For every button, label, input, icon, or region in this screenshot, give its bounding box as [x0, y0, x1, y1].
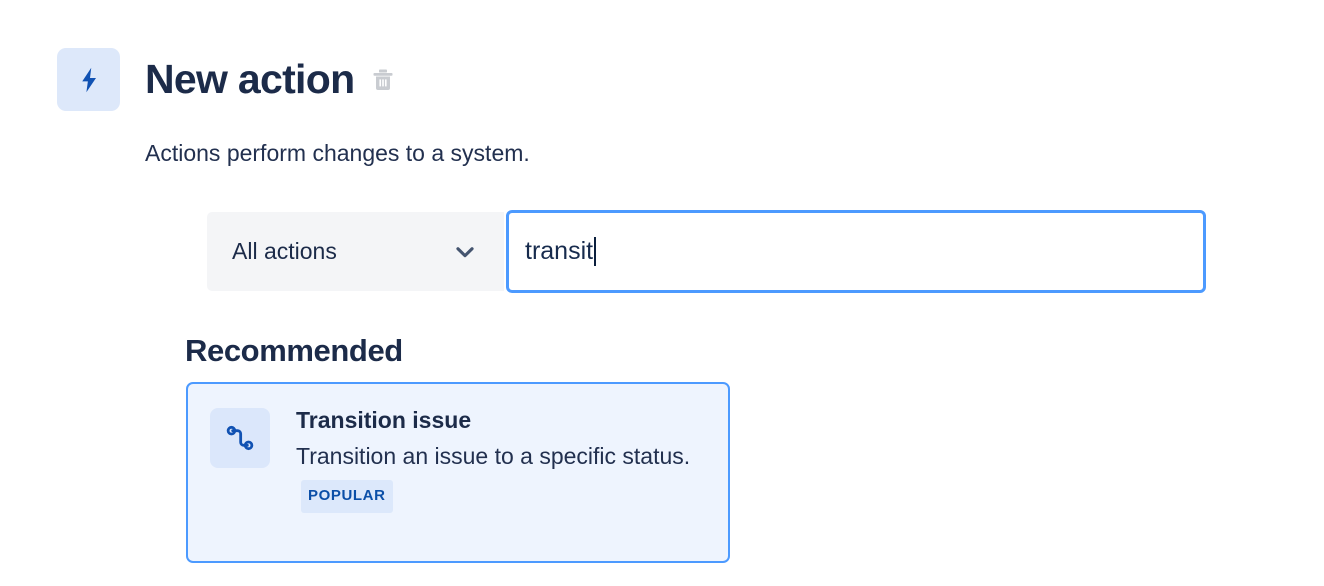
new-action-panel: New action Actions perform changes to a … — [0, 0, 1324, 586]
text-caret — [594, 237, 596, 266]
trash-icon[interactable] — [370, 67, 396, 93]
title-wrap: New action — [145, 59, 396, 100]
search-row: All actions transit — [207, 212, 1206, 293]
status-badge: POPULAR — [301, 480, 393, 513]
search-input[interactable]: transit — [506, 210, 1206, 293]
card-description: Transition an issue to a specific status… — [296, 437, 704, 516]
panel-description: Actions perform changes to a system. — [145, 137, 530, 169]
page-title: New action — [145, 59, 354, 100]
card-body: Transition issue Transition an issue to … — [296, 406, 704, 561]
action-filter-dropdown[interactable]: All actions — [207, 212, 504, 291]
action-filter-label: All actions — [232, 238, 337, 265]
card-title: Transition issue — [296, 406, 704, 435]
action-result-card-transition-issue[interactable]: Transition issue Transition an issue to … — [186, 382, 730, 563]
chevron-down-icon — [452, 239, 478, 265]
card-description-text: Transition an issue to a specific status… — [296, 443, 690, 469]
transition-icon — [210, 408, 270, 468]
lightning-bolt-icon — [57, 48, 120, 111]
header: New action — [57, 48, 396, 111]
recommended-heading: Recommended — [185, 332, 403, 369]
search-input-value: transit — [525, 239, 593, 264]
